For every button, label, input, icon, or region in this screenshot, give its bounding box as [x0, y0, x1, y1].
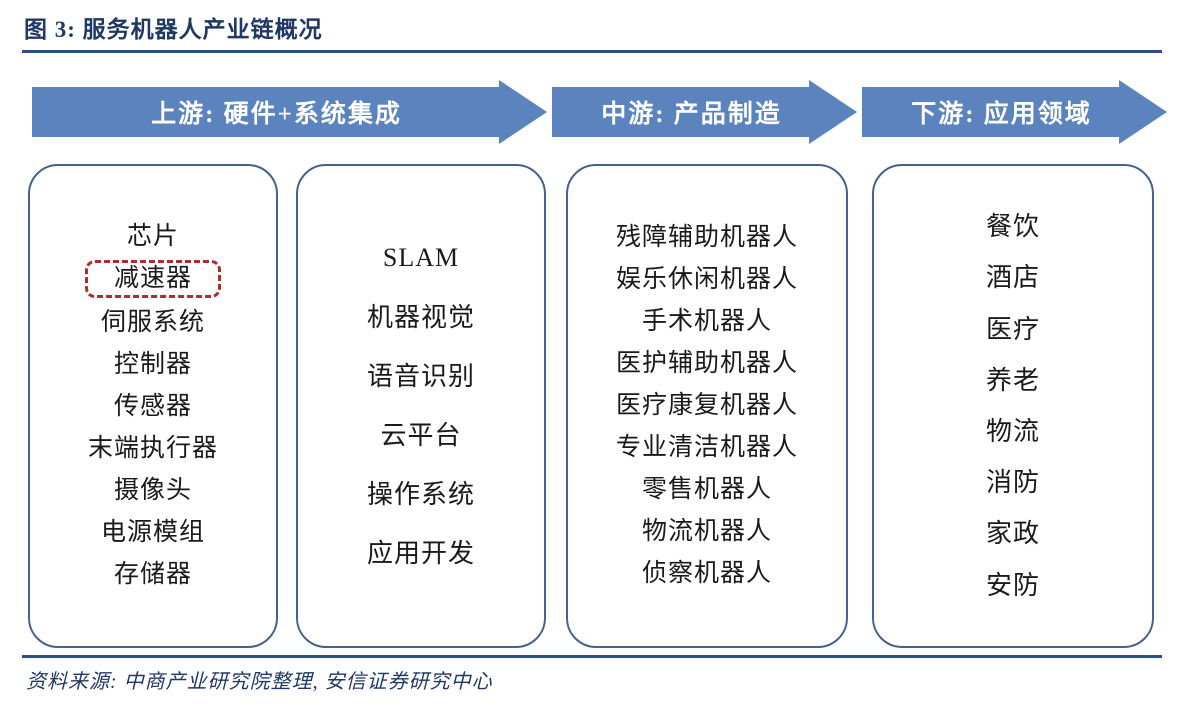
list-item: 传感器	[114, 392, 192, 422]
list-item: 安防	[986, 570, 1040, 601]
list-item: 娱乐休闲机器人	[616, 265, 798, 295]
stage-arrow-upstream[interactable]: 上游: 硬件+系统集成	[32, 80, 547, 144]
figure-title: 图 3: 服务机器人产业链概况	[24, 10, 323, 44]
stage-arrow-upstream-label: 上游: 硬件+系统集成	[151, 94, 428, 130]
stage-arrow-downstream-label: 下游: 应用领域	[911, 94, 1118, 130]
value-chain-stage-band: 上游: 硬件+系统集成 中游: 产品制造 下游: 应用领域	[0, 80, 1184, 144]
category-box-software: SLAM机器视觉语音识别云平台操作系统应用开发	[296, 164, 546, 648]
category-box-hardware: 芯片减速器伺服系统控制器传感器末端执行器摄像头电源模组存储器	[28, 164, 278, 648]
list-item: 末端执行器	[88, 434, 218, 464]
stage-arrow-midstream-label: 中游: 产品制造	[601, 94, 808, 130]
list-item: 应用开发	[367, 538, 475, 569]
list-item: 手术机器人	[642, 307, 772, 337]
list-item: 医护辅助机器人	[616, 349, 798, 379]
list-item: 机器视觉	[367, 302, 475, 333]
list-item: 养老	[986, 365, 1040, 396]
stage-arrow-midstream[interactable]: 中游: 产品制造	[552, 80, 857, 144]
list-item-highlighted: 减速器	[85, 260, 221, 298]
list-item: 物流机器人	[642, 517, 772, 547]
list-item: 语音识别	[367, 361, 475, 392]
source-note: 资料来源: 中商产业研究院整理, 安信证券研究中心	[26, 665, 493, 694]
category-box-applications: 餐饮酒店医疗养老物流消防家政安防	[872, 164, 1154, 648]
list-item: 控制器	[114, 350, 192, 380]
list-item: 伺服系统	[101, 308, 205, 338]
list-item: 酒店	[986, 262, 1040, 293]
list-item: 摄像头	[114, 476, 192, 506]
list-item: 侦察机器人	[642, 559, 772, 589]
stage-arrow-downstream[interactable]: 下游: 应用领域	[862, 80, 1167, 144]
list-item: 专业清洁机器人	[616, 433, 798, 463]
list-item: 餐饮	[986, 211, 1040, 242]
list-item: 电源模组	[101, 518, 205, 548]
list-item: 芯片	[127, 222, 179, 252]
list-item: 医疗	[986, 314, 1040, 345]
list-item: SLAM	[383, 242, 459, 273]
list-item: 操作系统	[367, 479, 475, 510]
list-item: 云平台	[380, 420, 461, 451]
list-item: 家政	[986, 518, 1040, 549]
category-box-products: 残障辅助机器人娱乐休闲机器人手术机器人医护辅助机器人医疗康复机器人专业清洁机器人…	[566, 164, 848, 648]
title-divider	[22, 50, 1162, 53]
list-item: 残障辅助机器人	[616, 223, 798, 253]
list-item: 存储器	[114, 560, 192, 590]
list-item: 医疗康复机器人	[616, 391, 798, 421]
list-item: 消防	[986, 467, 1040, 498]
list-item: 零售机器人	[642, 475, 772, 505]
list-item: 物流	[986, 416, 1040, 447]
footer-divider	[22, 655, 1162, 658]
